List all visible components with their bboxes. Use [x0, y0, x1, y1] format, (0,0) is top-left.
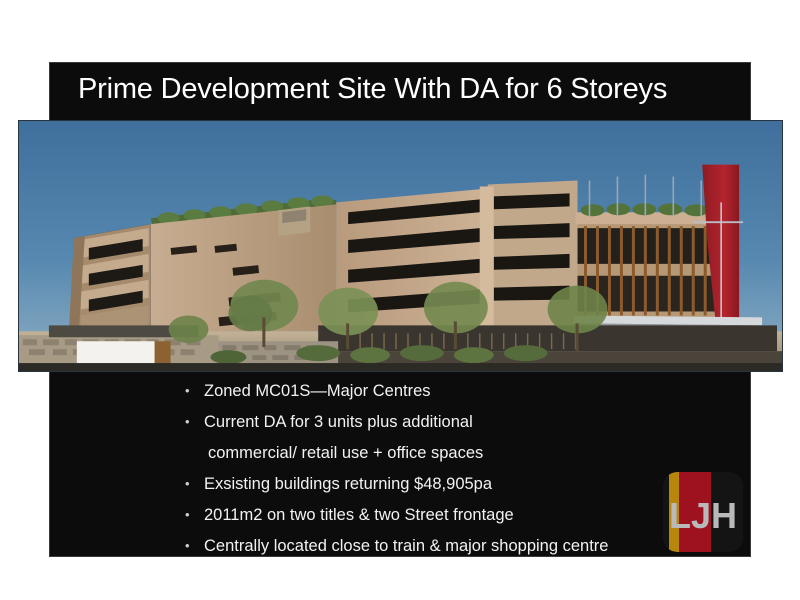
list-item: • Current DA for 3 units plus additional [182, 409, 722, 435]
bullet-text: Current DA for 3 units plus additional [204, 409, 473, 435]
ljh-logo-letters: LJH [669, 495, 737, 536]
bullet-marker-icon: • [182, 502, 204, 528]
bullet-text: Centrally located close to train & major… [204, 533, 608, 559]
bullet-marker-icon: • [182, 533, 204, 559]
list-item: • 2011m2 on two titles & two Street fron… [182, 502, 722, 528]
slide-canvas: Prime Development Site With DA for 6 Sto… [0, 0, 800, 600]
ljh-logo-mark: LJH [663, 472, 743, 552]
bullet-marker-icon: • [182, 378, 204, 404]
bullet-text-continuation: commercial/ retail use + office spaces [182, 440, 722, 466]
render-illustration [19, 121, 782, 371]
bullet-marker-icon: • [182, 409, 204, 435]
bullet-marker-icon: • [182, 471, 204, 497]
bullet-list: • Zoned MC01S—Major Centres • Current DA… [182, 378, 722, 564]
ljh-logo: LJH [663, 472, 743, 552]
bullet-text: 2011m2 on two titles & two Street fronta… [204, 502, 514, 528]
building-render-image [18, 120, 783, 372]
bullet-text: Exsisting buildings returning $48,905pa [204, 471, 492, 497]
page-title: Prime Development Site With DA for 6 Sto… [78, 73, 667, 106]
bullet-text: Zoned MC01S—Major Centres [204, 378, 431, 404]
list-item: • Exsisting buildings returning $48,905p… [182, 471, 722, 497]
list-item: • Centrally located close to train & maj… [182, 533, 722, 559]
slide-title-bar: Prime Development Site With DA for 6 Sto… [50, 63, 750, 115]
list-item: • Zoned MC01S—Major Centres [182, 378, 722, 404]
